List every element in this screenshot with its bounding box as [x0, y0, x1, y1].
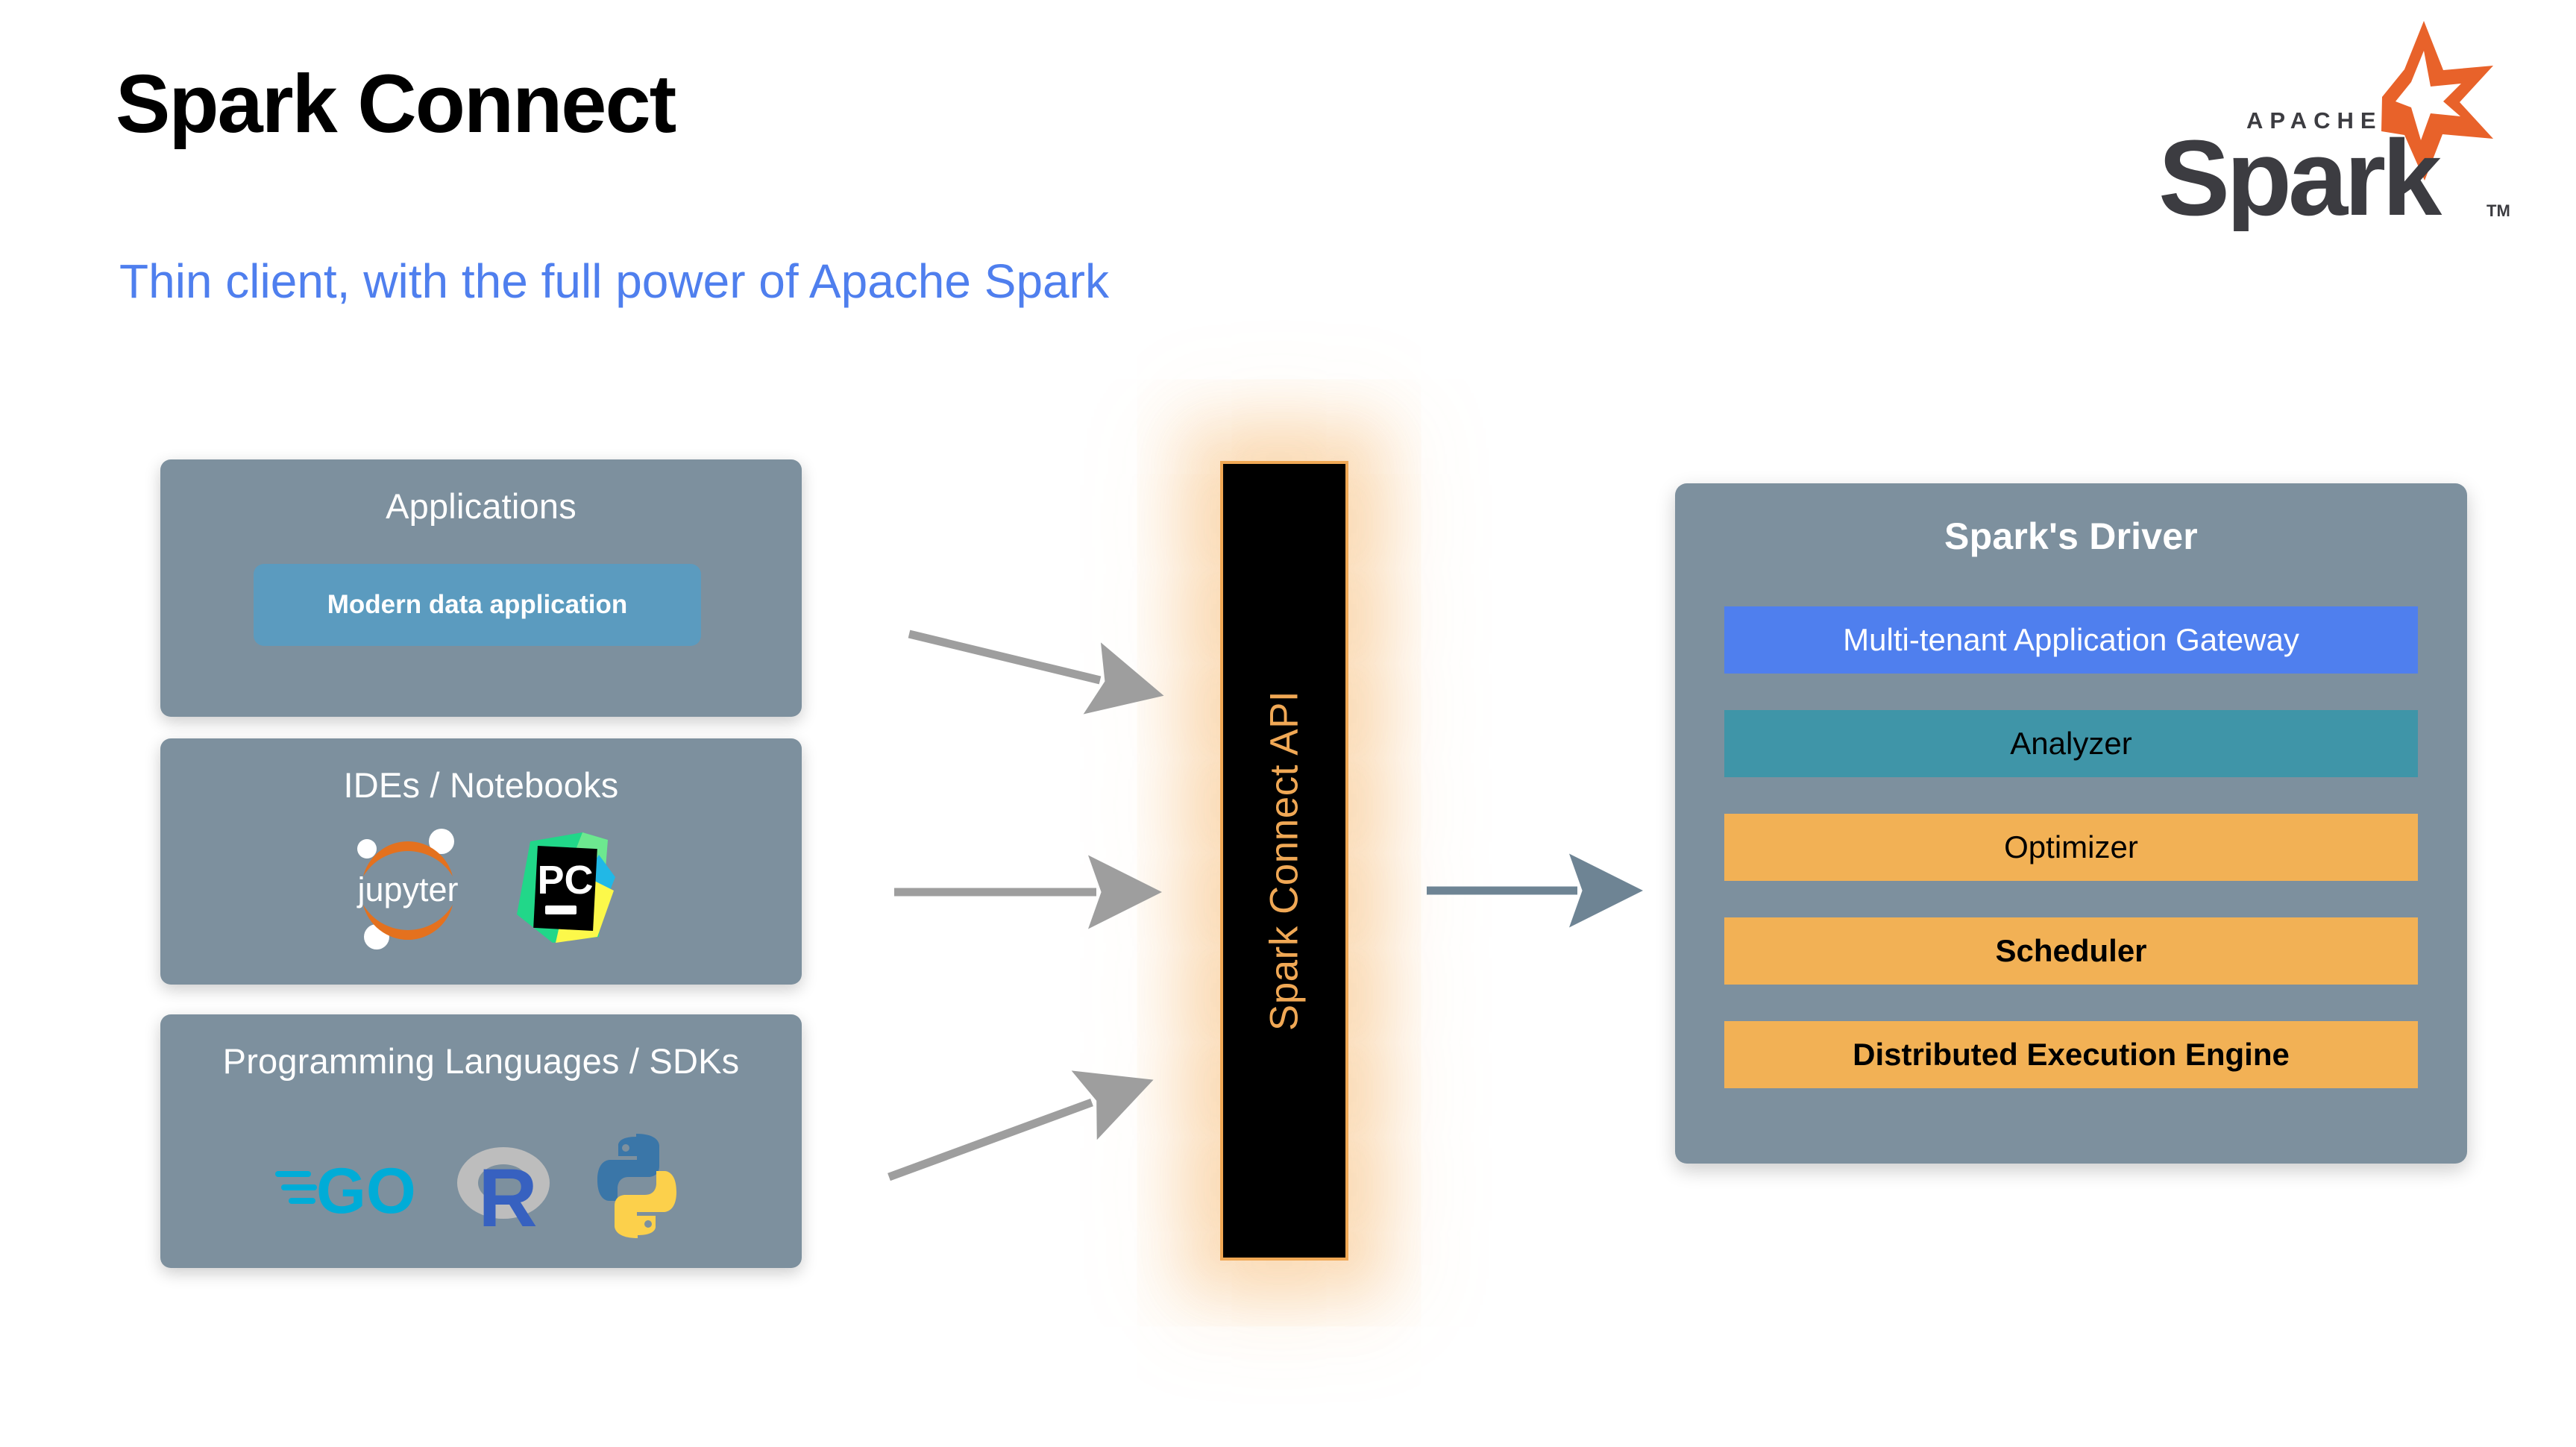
spark-connect-api-label: Spark Connect API [1262, 691, 1307, 1031]
modern-data-application-pill[interactable]: Modern data application [254, 564, 701, 646]
go-icon: GO [275, 1141, 424, 1234]
languages-logo-row: GO R [160, 1134, 802, 1242]
driver-layer-scheduler-label: Scheduler [1995, 933, 2146, 969]
spark-driver-title: Spark's Driver [1675, 483, 2467, 558]
svg-text:R: R [478, 1152, 537, 1238]
apache-spark-logo: APACHE Spark TM [2158, 15, 2531, 231]
driver-layer-gateway[interactable]: Multi-tenant Application Gateway [1724, 606, 2418, 674]
driver-layer-gateway-label: Multi-tenant Application Gateway [1843, 622, 2299, 658]
r-icon: R [450, 1134, 562, 1242]
driver-layer-analyzer-label: Analyzer [2010, 726, 2132, 762]
page-subtitle: Thin client, with the full power of Apac… [119, 257, 1109, 305]
arrow-applications-to-api [909, 634, 1100, 680]
svg-text:Spark: Spark [2158, 118, 2443, 231]
pycharm-icon: PC [509, 825, 621, 948]
driver-layer-execution-engine[interactable]: Distributed Execution Engine [1724, 1021, 2418, 1088]
card-title-ides-notebooks: IDEs / Notebooks [160, 764, 802, 808]
driver-layer-scheduler[interactable]: Scheduler [1724, 917, 2418, 985]
modern-data-application-label: Modern data application [327, 590, 628, 620]
apache-spark-logo-icon: APACHE Spark TM [2158, 15, 2531, 231]
driver-layer-optimizer-label: Optimizer [2004, 829, 2138, 865]
driver-layer-list: Multi-tenant Application Gateway Analyze… [1724, 606, 2418, 1088]
svg-text:jupyter: jupyter [356, 870, 458, 908]
driver-layer-analyzer[interactable]: Analyzer [1724, 710, 2418, 777]
client-card-applications[interactable]: Applications Modern data application [160, 459, 802, 717]
card-title-programming-languages: Programming Languages / SDKs [160, 1040, 802, 1084]
card-title-applications: Applications [160, 485, 802, 529]
ides-logo-row: jupyter PC [160, 819, 802, 954]
arrow-langs-to-api [889, 1102, 1092, 1177]
client-card-ides-notebooks[interactable]: IDEs / Notebooks jupyter PC [160, 738, 802, 985]
python-icon [587, 1134, 688, 1242]
client-card-programming-languages[interactable]: Programming Languages / SDKs GO R [160, 1014, 802, 1268]
driver-layer-execution-engine-label: Distributed Execution Engine [1853, 1037, 2290, 1073]
svg-text:TM: TM [2487, 201, 2510, 220]
spark-connect-api-bar[interactable]: Spark Connect API [1220, 461, 1348, 1261]
svg-text:PC: PC [537, 858, 593, 903]
page-title: Spark Connect [116, 63, 675, 145]
spark-driver-card[interactable]: Spark's Driver Multi-tenant Application … [1675, 483, 2467, 1164]
jupyter-icon: jupyter [341, 819, 475, 954]
svg-text:GO: GO [316, 1155, 416, 1227]
driver-layer-optimizer[interactable]: Optimizer [1724, 814, 2418, 881]
